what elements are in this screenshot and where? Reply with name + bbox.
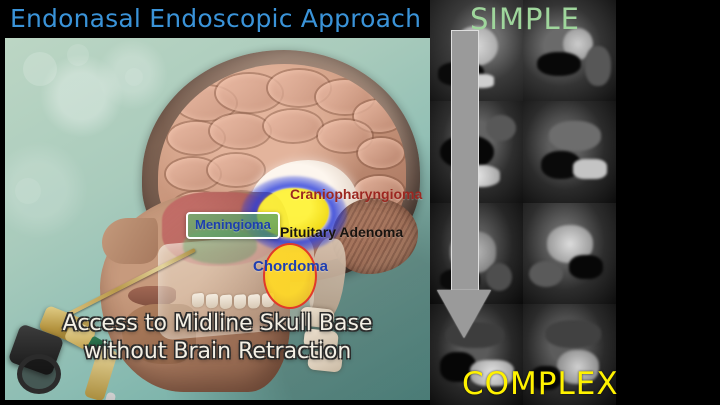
caption-line-1: Access to Midline Skull Base: [5, 310, 430, 338]
bokeh-dot: [67, 44, 89, 66]
illustration-caption: Access to Midline Skull Base without Bra…: [5, 310, 430, 366]
nose: [102, 218, 158, 264]
label-chordoma: Chordoma: [253, 258, 328, 275]
complexity-arrow-icon: [437, 30, 493, 340]
page-title: Endonasal Endoscopic Approach: [10, 2, 450, 36]
label-pituitary-adenoma: Pituitary Adenoma: [280, 224, 403, 240]
bokeh-dot: [23, 52, 57, 86]
mri-tile: [523, 203, 616, 304]
scale-label-complex: COMPLEX: [462, 366, 619, 402]
slide-canvas: Endonasal Endoscopic Approach: [0, 0, 720, 405]
caption-line-2: without Brain Retraction: [5, 338, 430, 366]
mri-tile: [523, 101, 616, 202]
arrow-head: [437, 290, 491, 338]
label-meningioma: Meningioma: [195, 217, 271, 232]
scale-label-simple: SIMPLE: [470, 2, 580, 36]
bokeh-dot: [15, 178, 41, 204]
chordoma-marker: [263, 243, 317, 309]
illustration-panel: Craniopharyngioma Meningioma Pituitary A…: [5, 38, 430, 400]
label-craniopharyngioma: Craniopharyngioma: [290, 186, 422, 202]
label-meningioma-box: Meningioma: [186, 212, 280, 239]
arrow-shaft: [451, 30, 479, 293]
